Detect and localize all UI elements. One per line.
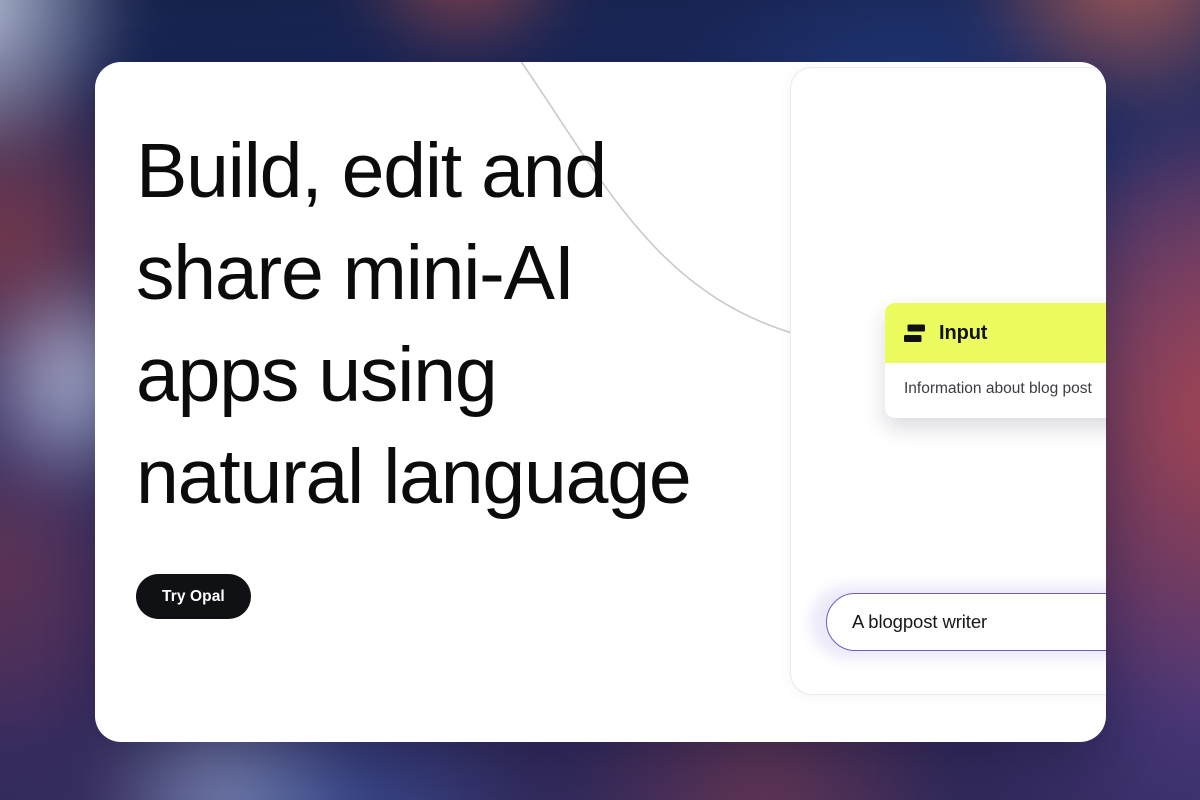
screenshot-stage: Build, edit and share mini-AI apps using… bbox=[0, 0, 1200, 800]
input-node-title: Input bbox=[939, 322, 987, 345]
hero-card: Build, edit and share mini-AI apps using… bbox=[95, 62, 1106, 742]
prompt-input[interactable]: A blogpost writer bbox=[826, 593, 1106, 651]
hero-copy-block: Build, edit and share mini-AI apps using… bbox=[136, 120, 776, 619]
rows-icon bbox=[904, 324, 925, 343]
page-title: Build, edit and share mini-AI apps using… bbox=[136, 120, 776, 528]
input-node-card[interactable]: Input Information about blog post bbox=[885, 303, 1106, 418]
input-node-description: Information about blog post bbox=[885, 363, 1106, 418]
input-node-header[interactable]: Input bbox=[885, 303, 1106, 363]
try-opal-button[interactable]: Try Opal bbox=[136, 574, 251, 619]
